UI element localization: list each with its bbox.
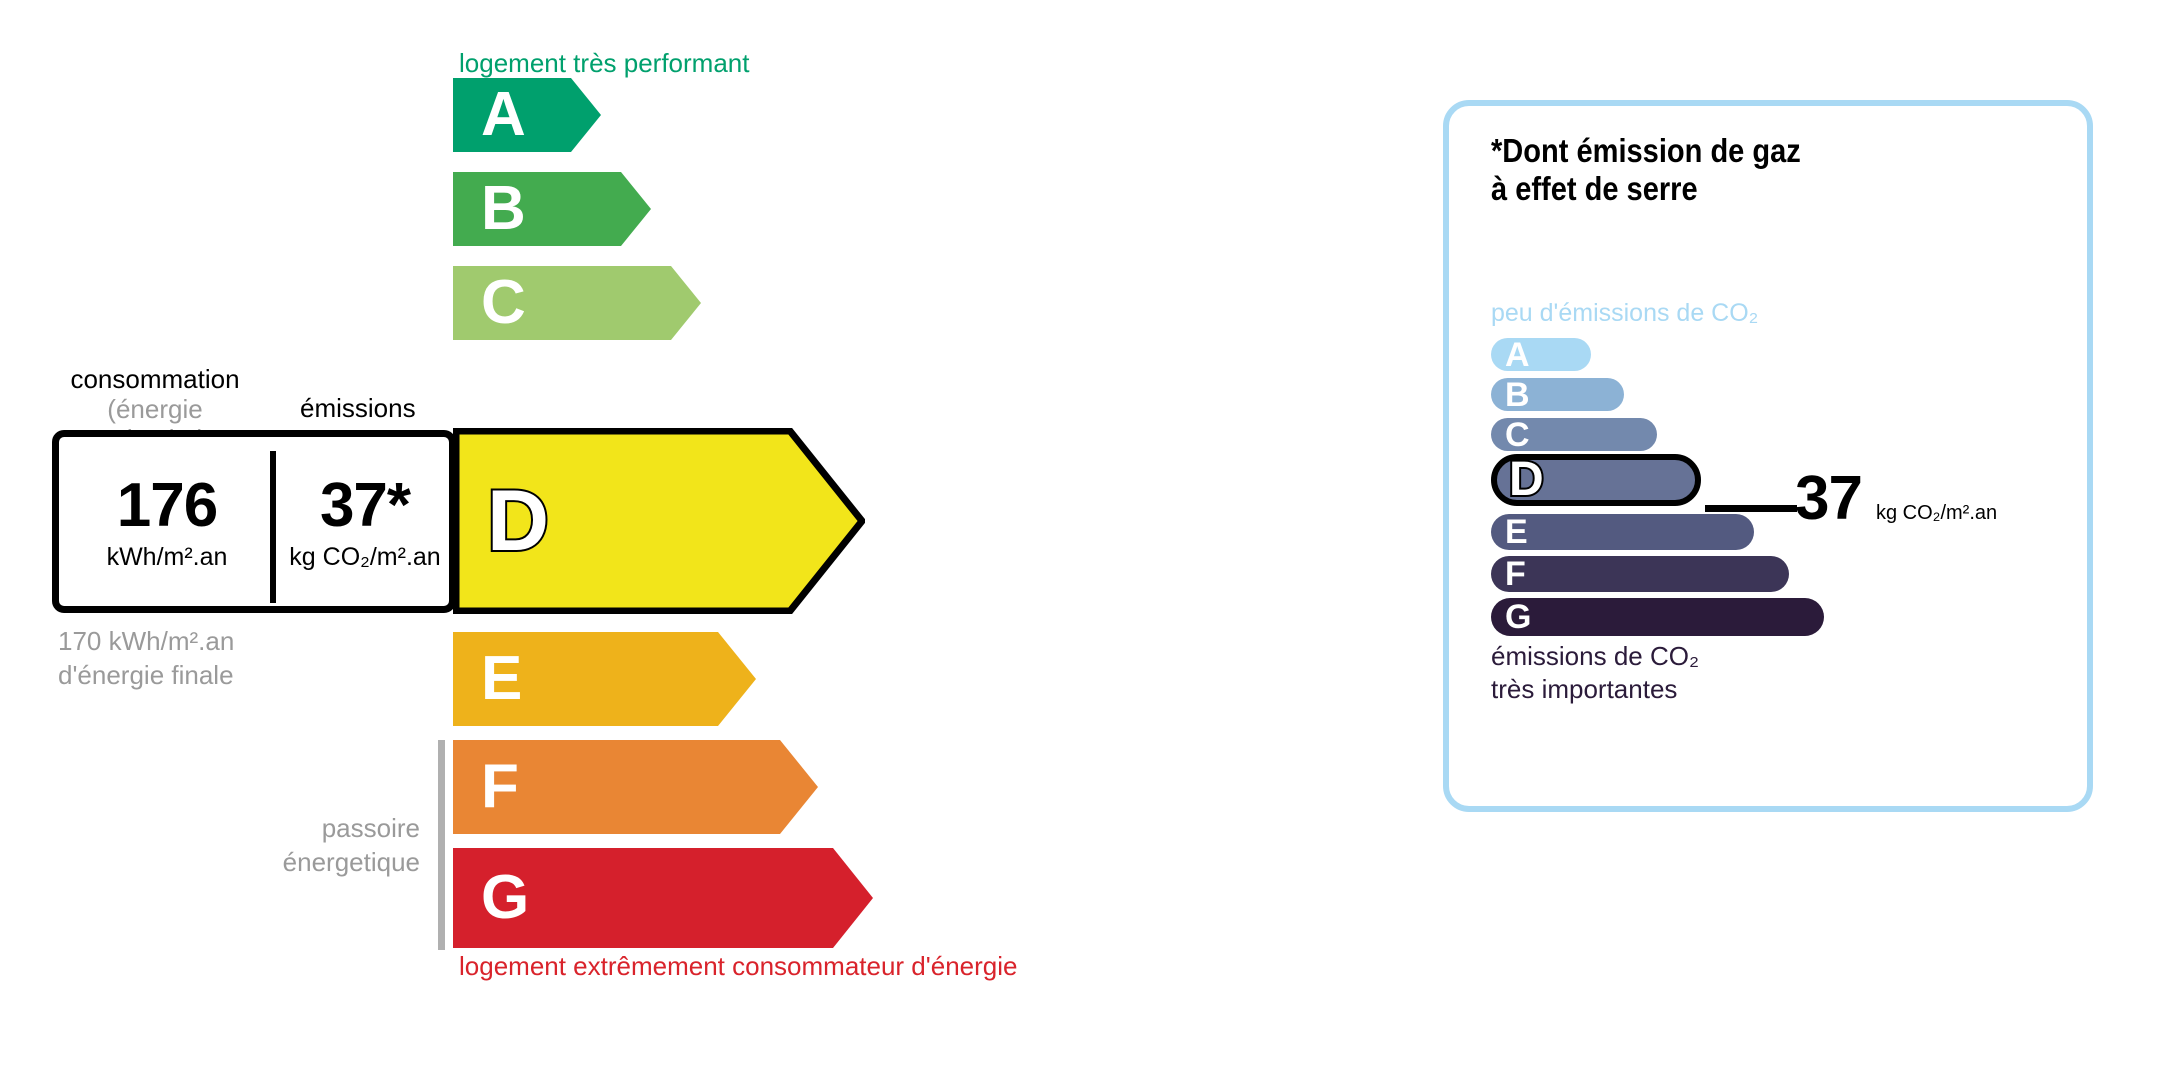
energy-arrow-d-letter: D — [487, 478, 549, 564]
co2-bar-b-letter: B — [1505, 378, 1530, 412]
co2-class-row-a[interactable]: A — [1491, 338, 1591, 371]
energy-arrow-e-letter: E — [481, 648, 522, 710]
energy-arrow-g: G — [453, 848, 873, 948]
energy-class-row-f[interactable]: F — [453, 740, 818, 834]
final-energy-label: 170 kWh/m².an d'énergie finale — [58, 625, 234, 693]
final-energy-line1: 170 kWh/m².an — [58, 625, 234, 659]
co2-class-row-f[interactable]: F — [1491, 556, 1789, 592]
co2-bar-d: D — [1491, 454, 1701, 506]
co2-class-row-d-selected[interactable]: D — [1491, 454, 1701, 506]
energy-arrow-f-letter: F — [481, 756, 519, 818]
co2-value: 37 — [1795, 468, 1862, 530]
co2-bar-d-letter: D — [1509, 456, 1544, 504]
emissions-unit: kg CO₂/m².an — [279, 543, 451, 572]
co2-bar-b: B — [1491, 378, 1624, 411]
co2-class-row-b[interactable]: B — [1491, 378, 1624, 411]
co2-bar-e: E — [1491, 514, 1754, 550]
co2-bar-c-letter: C — [1505, 418, 1530, 452]
energy-arrow-c: C — [453, 266, 701, 340]
co2-bar-g-letter: G — [1505, 600, 1531, 634]
energy-class-row-e[interactable]: E — [453, 632, 756, 726]
energy-arrow-b-letter: B — [481, 178, 526, 240]
co2-bar-f-letter: F — [1505, 557, 1526, 591]
energy-class-row-a[interactable]: A — [453, 78, 601, 152]
energy-arrow-a-letter: A — [481, 84, 526, 146]
passoire-line1: passoire — [180, 812, 420, 846]
final-energy-line2: d'énergie finale — [58, 659, 234, 693]
emissions-value-cell: 37* kg CO₂/m².an — [279, 475, 451, 572]
energy-class-row-g[interactable]: G — [453, 848, 873, 948]
energy-top-caption: logement très performant — [459, 48, 749, 79]
energy-arrow-e: E — [453, 632, 756, 726]
co2-value-unit: kg CO₂/m².an — [1876, 502, 1997, 525]
co2-bar-c: C — [1491, 418, 1657, 451]
co2-title-line2: à effet de serre — [1491, 170, 1801, 208]
passoire-line2: énergetique — [180, 846, 420, 880]
energy-performance-chart: logement très performant A B C — [0, 0, 1400, 1079]
co2-bar-g: G — [1491, 598, 1824, 636]
co2-bar-a: A — [1491, 338, 1591, 371]
co2-panel-title: *Dont émission de gaz à effet de serre — [1491, 132, 1801, 209]
co2-bar-a-letter: A — [1505, 338, 1530, 372]
co2-class-row-c[interactable]: C — [1491, 418, 1657, 451]
co2-class-row-e[interactable]: E — [1491, 514, 1754, 550]
energy-class-row-d-selected[interactable]: D — [453, 428, 865, 614]
energy-arrow-d: D — [453, 428, 865, 614]
passoire-energetique-bracket — [438, 740, 445, 950]
emissions-header-label: émissions — [300, 393, 416, 424]
co2-class-row-g[interactable]: G — [1491, 598, 1824, 636]
passoire-energetique-label: passoire énergetique — [180, 812, 420, 880]
consumption-value-cell: 176 kWh/m².an — [67, 475, 267, 572]
co2-title-line1: *Dont émission de gaz — [1491, 132, 1801, 170]
co2-bottom-line2: très importantes — [1491, 673, 1699, 706]
energy-arrow-f: F — [453, 740, 818, 834]
energy-arrow-c-letter: C — [481, 272, 526, 334]
co2-top-caption: peu d'émissions de CO₂ — [1491, 299, 1758, 328]
co2-bottom-line1: émissions de CO₂ — [1491, 640, 1699, 673]
co2-emissions-panel: *Dont émission de gaz à effet de serre p… — [1443, 100, 2093, 812]
energy-arrow-g-letter: G — [481, 867, 529, 929]
energy-arrow-b: B — [453, 172, 651, 246]
energy-class-row-b[interactable]: B — [453, 172, 651, 246]
values-divider — [270, 451, 276, 603]
energy-values-box: 176 kWh/m².an 37* kg CO₂/m².an — [52, 430, 456, 613]
energy-arrow-a: A — [453, 78, 601, 152]
consumption-header-line1: consommation — [55, 365, 255, 395]
consumption-value: 176 — [67, 475, 267, 537]
consumption-unit: kWh/m².an — [67, 543, 267, 572]
emissions-value: 37* — [279, 475, 451, 537]
co2-bar-e-letter: E — [1505, 515, 1528, 549]
energy-class-row-c[interactable]: C — [453, 266, 701, 340]
energy-arrow-a-shape — [453, 78, 601, 152]
co2-value-leader-line — [1705, 505, 1797, 512]
co2-bottom-caption: émissions de CO₂ très importantes — [1491, 640, 1699, 707]
co2-bar-f: F — [1491, 556, 1789, 592]
energy-bottom-caption: logement extrêmement consommateur d'éner… — [459, 951, 1017, 982]
